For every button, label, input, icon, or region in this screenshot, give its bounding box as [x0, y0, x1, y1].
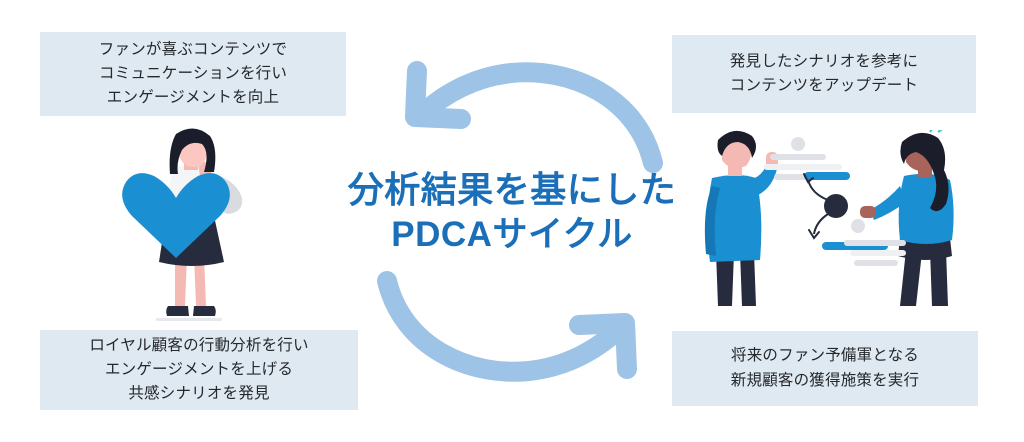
data-bar-lower-3 — [854, 260, 898, 266]
data-bar-lower-1 — [844, 240, 906, 246]
woman-hair-accent — [930, 130, 944, 132]
cycle-arrow-bottom-icon — [375, 265, 665, 390]
shoe-left — [166, 306, 189, 316]
caption-box-top-left: ファンが喜ぶコンテンツで コミュニケーションを行い エンゲージメントを向上 — [40, 32, 346, 116]
caption-box-bottom-right: 将来のファン予備軍となる 新規顧客の獲得施策を実行 — [672, 331, 978, 406]
caption-box-bottom-left: ロイヤル顧客の行動分析を行い エンゲージメントを上げる 共感シナリオを発見 — [40, 330, 358, 410]
title-line-1: 分析結果を基にした — [334, 168, 690, 213]
data-bar-upper-2 — [764, 164, 842, 170]
caption-text-top-right: 発見したシナリオを参考に コンテンツをアップデート — [730, 50, 918, 98]
title-line-2: PDCAサイクル — [334, 213, 690, 256]
pdca-cycle-diagram: ファンが喜ぶコンテンツで コミュニケーションを行い エンゲージメントを向上 発見… — [0, 0, 1024, 442]
caption-text-bottom-right: 将来のファン予備軍となる 新規顧客の獲得施策を実行 — [731, 344, 919, 392]
exchange-arrow-down — [814, 214, 828, 234]
woman-hand — [860, 206, 876, 218]
data-dot-upper — [791, 137, 805, 151]
cycle-arrow-top-icon — [375, 55, 665, 175]
exchange-arrow-up — [808, 180, 828, 200]
caption-text-top-left: ファンが喜ぶコンテンツで コミュニケーションを行い エンゲージメントを向上 — [99, 38, 287, 110]
data-bar-lower-2 — [850, 250, 906, 256]
two-people-sharing-data-illustration — [694, 130, 970, 322]
caption-text-bottom-left: ロイヤル顧客の行動分析を行い エンゲージメントを上げる 共感シナリオを発見 — [89, 334, 308, 406]
ground-line — [156, 318, 222, 321]
page-title: 分析結果を基にした PDCAサイクル — [334, 168, 690, 256]
woman-holding-heart-illustration — [118, 128, 258, 324]
data-dot-lower — [851, 219, 865, 233]
data-bar-upper-1 — [770, 154, 826, 160]
caption-box-top-right: 発見したシナリオを参考に コンテンツをアップデート — [672, 35, 976, 113]
shoe-right — [193, 306, 216, 316]
